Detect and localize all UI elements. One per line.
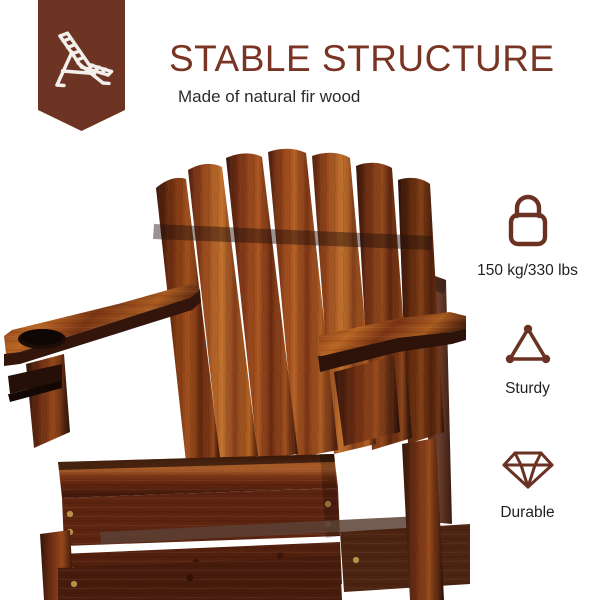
feature-item-durable: Durable (455, 444, 600, 521)
triangle-sturdy-icon (502, 320, 554, 368)
chair-back-slats (156, 149, 444, 462)
product-image (0, 132, 470, 600)
deck-chair-icon (48, 30, 115, 92)
product-infographic: STABLE STRUCTURE Made of natural fir woo… (0, 0, 600, 600)
feature-label: Durable (455, 504, 600, 521)
padlock-icon (502, 192, 554, 250)
diamond-durable-icon (500, 444, 556, 492)
feature-item-load-capacity: 150 kg/330 lbs (455, 192, 600, 279)
page-subtitle: Made of natural fir wood (178, 88, 360, 105)
feature-label: 150 kg/330 lbs (455, 262, 600, 279)
ribbon-banner (38, 0, 125, 131)
adirondack-chair-illustration (0, 132, 470, 600)
feature-label: Sturdy (455, 380, 600, 397)
feature-item-sturdy: Sturdy (455, 320, 600, 397)
page-title: STABLE STRUCTURE (169, 40, 555, 77)
